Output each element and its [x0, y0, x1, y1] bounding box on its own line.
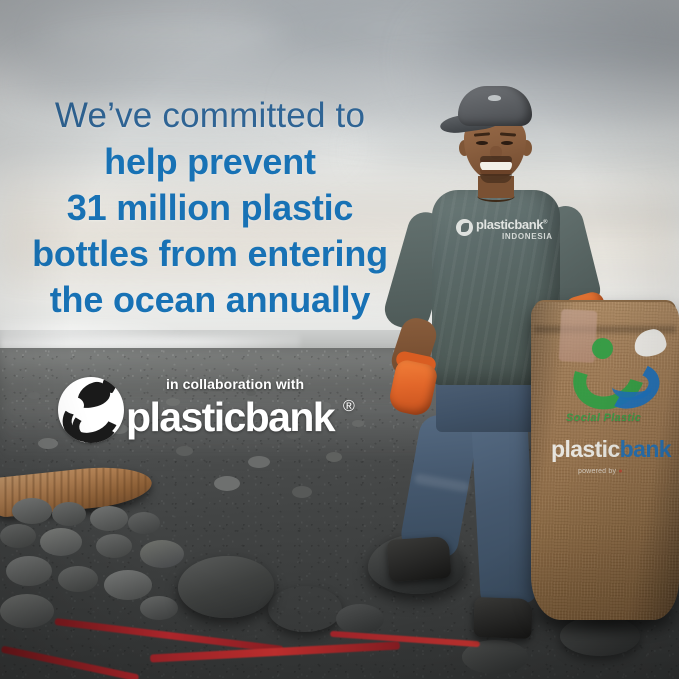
necklace	[477, 190, 515, 202]
sack-brand-plastic: plastic	[551, 436, 620, 462]
logo-negative-space	[64, 397, 84, 414]
headline-block: We’ve committed to help prevent 31 milli…	[0, 98, 420, 323]
foreground-rock	[268, 586, 342, 632]
baseball-cap	[458, 86, 532, 126]
pebble	[12, 498, 52, 524]
pebble	[6, 556, 52, 586]
smiling-mouth	[480, 162, 512, 173]
cloud	[40, 16, 280, 56]
pebble	[38, 438, 58, 449]
emblem-dot	[592, 338, 613, 359]
shirt-brand-text: plasticbank	[476, 217, 543, 232]
campaign-image: plasticbank® INDONESIA Social Plastic pl…	[0, 0, 679, 679]
sack-powered-by: powered by ●	[578, 468, 678, 475]
headline-line-5: the ocean annually	[0, 277, 420, 323]
pebble	[214, 476, 240, 491]
eye	[476, 141, 488, 145]
social-plastic-emblem-icon	[572, 338, 664, 412]
plasticbank-wordmark: plasticbank	[126, 394, 334, 441]
shirt-country-label: INDONESIA	[502, 232, 553, 241]
emblem-wave-inner	[612, 374, 652, 400]
shirt-registered-mark: ®	[543, 220, 547, 226]
collaboration-label: in collaboration with	[166, 376, 304, 392]
pebble	[140, 596, 178, 620]
shirt-brand-wordmark: plasticbank®	[476, 217, 547, 232]
headline-bold-block: help prevent 31 million plastic bottles …	[0, 139, 420, 323]
pebble	[52, 502, 86, 526]
sack-tagline: Social Plastic	[566, 412, 678, 424]
foreground-rock	[178, 556, 274, 618]
cap-logo-icon	[488, 95, 501, 101]
plasticbank-mark-icon	[456, 219, 473, 236]
plasticbank-logo-lockup: in collaboration with plasticbank ®	[58, 374, 368, 454]
shirt-logo: plasticbank® INDONESIA	[456, 216, 560, 248]
pebble	[140, 540, 184, 568]
pebble	[0, 524, 36, 548]
sack-powered-mark: ●	[618, 468, 622, 475]
pebble	[40, 528, 82, 556]
headline-line-4: bottles from entering	[0, 231, 420, 277]
right-leg	[471, 415, 537, 606]
right-boot	[473, 597, 532, 639]
sack-powered-label: powered by	[578, 468, 616, 475]
pebble	[58, 566, 98, 592]
headline-line-2: help prevent	[0, 139, 420, 185]
pebble	[96, 534, 132, 558]
pebble	[28, 392, 40, 399]
pebble	[292, 486, 312, 498]
eye	[501, 141, 513, 145]
sack-brand-wordmark: plasticbank	[551, 436, 679, 463]
plasticbank-circle-whale-logo-icon	[58, 377, 124, 443]
pebble	[104, 570, 152, 600]
pebble	[0, 594, 54, 628]
left-boot	[387, 536, 452, 582]
pebble	[90, 506, 128, 531]
sack-brand-bank: bank	[620, 436, 671, 462]
headline-line-1: We’ve committed to	[0, 98, 420, 139]
pebble	[128, 512, 160, 534]
registered-trademark-symbol: ®	[343, 398, 355, 416]
headline-line-3: 31 million plastic	[0, 185, 420, 231]
foreground-rock	[336, 604, 384, 634]
pebble	[248, 456, 270, 468]
chin-beard	[480, 174, 512, 183]
